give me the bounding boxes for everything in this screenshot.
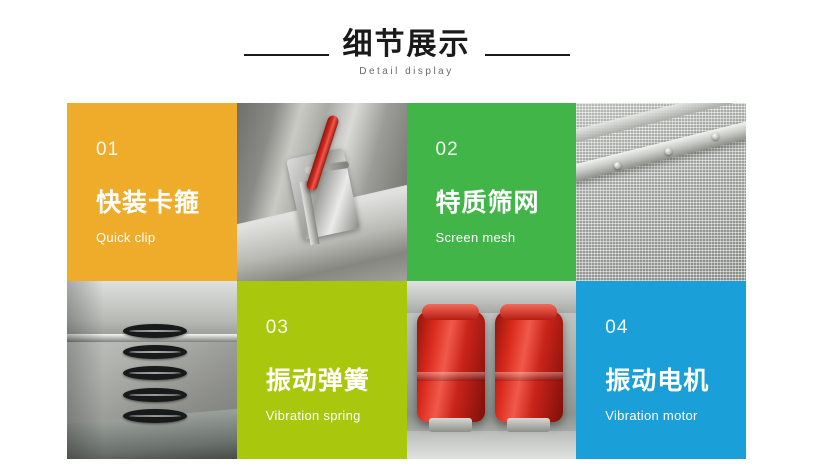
detail-card-03: 03 振动弹簧 Vibration spring <box>237 281 407 459</box>
motor-band <box>417 372 485 381</box>
detail-card-02: 02 特质筛网 Screen mesh <box>407 103 577 281</box>
clamp-post-shape <box>299 181 319 246</box>
detail-name-cn-01: 快装卡箍 <box>96 183 237 219</box>
quick-clip-clamp-photo <box>237 103 407 281</box>
motor-top-rail <box>407 281 577 313</box>
header-title-block: 细节展示 Detail display <box>343 30 471 77</box>
vibration-spring-photo <box>67 281 237 459</box>
mesh-frame-bar <box>576 117 746 185</box>
mesh-rivet <box>712 133 719 140</box>
header-rule-left <box>244 54 329 56</box>
spring-coil <box>123 388 187 402</box>
motor-base-plate <box>507 418 550 432</box>
spring-coil <box>123 366 187 380</box>
page-title-cn: 细节展示 <box>343 30 471 60</box>
spring-base <box>67 408 237 459</box>
detail-number-04: 04 <box>605 317 746 339</box>
detail-name-cn-04: 振动电机 <box>605 361 746 397</box>
vibration-motor-photo <box>407 281 577 459</box>
motor-band <box>495 372 563 381</box>
detail-name-en-02: Screen mesh <box>436 230 577 245</box>
detail-number-01: 01 <box>96 139 237 161</box>
detail-name-en-04: Vibration motor <box>605 408 746 423</box>
header-rule-right <box>485 54 570 56</box>
spring-top-plate <box>67 281 237 342</box>
detail-name-cn-03: 振动弹簧 <box>266 361 407 397</box>
detail-name-en-03: Vibration spring <box>266 408 407 423</box>
motor-bottom-rail <box>407 431 577 459</box>
clamp-arm-shape <box>304 160 349 173</box>
detail-number-02: 02 <box>436 139 577 161</box>
detail-number-03: 03 <box>266 317 407 339</box>
mesh-frame-bar-upper <box>576 103 746 145</box>
spring-coil <box>123 409 187 423</box>
motor-cap <box>500 304 557 320</box>
clamp-red-handle-shape <box>305 114 340 192</box>
detail-display-page: 细节展示 Detail display 01 快装卡箍 Quick clip 0… <box>0 0 813 472</box>
page-title-en: Detail display <box>359 67 453 77</box>
detail-name-en-01: Quick clip <box>96 230 237 245</box>
motor-cap <box>422 304 479 320</box>
vibration-motor-unit <box>417 311 485 421</box>
mesh-rivet <box>614 162 621 169</box>
detail-card-04: 04 振动电机 Vibration motor <box>576 281 746 459</box>
page-header: 细节展示 Detail display <box>0 18 813 88</box>
clamp-body-shape <box>287 148 360 240</box>
spring-coil <box>123 324 187 338</box>
detail-card-01: 01 快装卡箍 Quick clip <box>67 103 237 281</box>
spring-coil <box>123 345 187 359</box>
spring-shadow <box>67 281 104 459</box>
motor-base-plate <box>429 418 472 432</box>
detail-name-cn-02: 特质筛网 <box>436 183 577 219</box>
screen-mesh-photo <box>576 103 746 281</box>
mesh-rivet <box>665 148 672 155</box>
spring-plate-edge <box>67 334 237 342</box>
detail-grid: 01 快装卡箍 Quick clip 02 特质筛网 Screen mesh <box>67 103 746 459</box>
vibration-motor-unit <box>495 311 563 421</box>
